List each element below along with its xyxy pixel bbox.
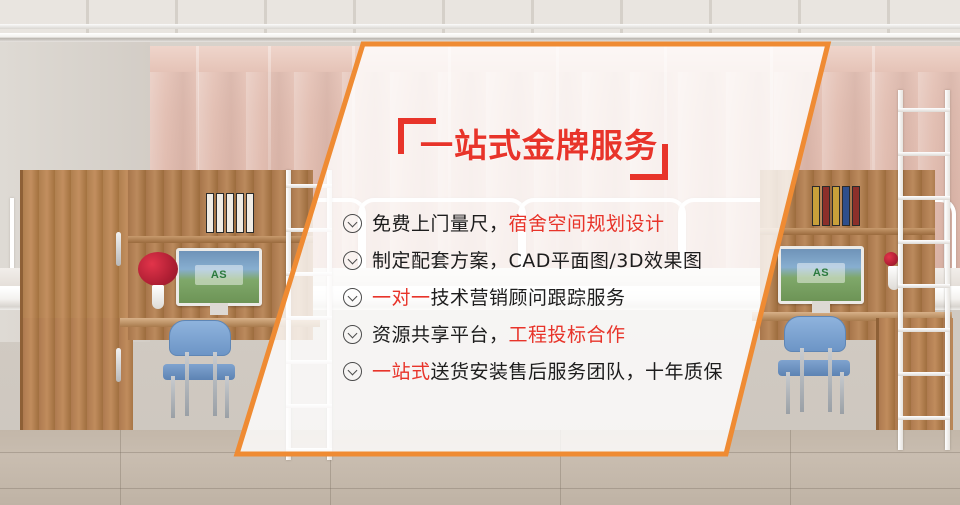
feature-text-1: 免费上门量尺，宿舍空间规划设计 xyxy=(372,211,665,237)
feature-text-4: 资源共享平台，工程投标合作 xyxy=(372,322,626,348)
feature-text-5: 一站式送货安装售后服务团队，十年质保 xyxy=(372,359,723,385)
feature-plain: 资源共享平台， xyxy=(372,324,509,346)
page-title: 一站式金牌服务 xyxy=(420,124,658,168)
feature-highlight: 一对一 xyxy=(372,287,431,309)
chevron-down-circle-icon xyxy=(343,288,362,307)
feature-highlight: 工程投标合作 xyxy=(509,324,626,346)
feature-highlight: 一站式 xyxy=(372,361,431,383)
list-item: 一对一技术营销顾问跟踪服务 xyxy=(343,279,773,316)
feature-list: 免费上门量尺，宿舍空间规划设计 制定配套方案，CAD平面图/3D效果图 一对一技… xyxy=(343,205,773,390)
title-block: 一站式金牌服务 xyxy=(398,118,668,180)
chevron-down-circle-icon xyxy=(343,214,362,233)
chevron-down-circle-icon xyxy=(343,251,362,270)
list-item: 免费上门量尺，宿舍空间规划设计 xyxy=(343,205,773,242)
chevron-down-circle-icon xyxy=(343,325,362,344)
banner-content: 一站式金牌服务 免费上门量尺，宿舍空间规划设计 制定配套方案，CAD平面图/3D… xyxy=(0,0,960,505)
feature-plain: 送货安装售后服务团队，十年质保 xyxy=(431,361,724,383)
promo-banner: AS AS xyxy=(0,0,960,505)
list-item: 资源共享平台，工程投标合作 xyxy=(343,316,773,353)
list-item: 一站式送货安装售后服务团队，十年质保 xyxy=(343,353,773,390)
feature-plain: 技术营销顾问跟踪服务 xyxy=(431,287,626,309)
list-item: 制定配套方案，CAD平面图/3D效果图 xyxy=(343,242,773,279)
feature-plain: 免费上门量尺， xyxy=(372,213,509,235)
chevron-down-circle-icon xyxy=(343,362,362,381)
feature-highlight: 宿舍空间规划设计 xyxy=(509,213,665,235)
feature-text-3: 一对一技术营销顾问跟踪服务 xyxy=(372,285,626,311)
feature-text-2: 制定配套方案，CAD平面图/3D效果图 xyxy=(372,248,703,274)
feature-plain: 制定配套方案，CAD平面图/3D效果图 xyxy=(372,250,703,272)
